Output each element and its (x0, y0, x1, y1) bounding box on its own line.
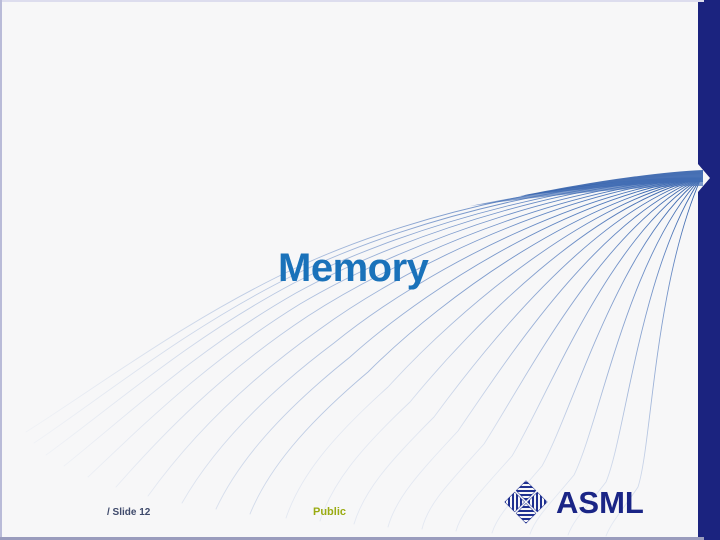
asml-pinwheel-mark (505, 481, 547, 523)
classification-label: Public (313, 506, 346, 518)
slide-left-rule (0, 0, 2, 540)
presentation-slide: Memory / Slide 12 Public (0, 0, 720, 540)
asml-wordmark: ASML (556, 485, 644, 520)
slide-number-label: / Slide 12 (107, 507, 150, 518)
right-accent-band (698, 0, 720, 540)
slide-top-rule (0, 0, 704, 2)
asml-logo: ASML (504, 480, 656, 524)
slide-title: Memory (278, 248, 428, 288)
